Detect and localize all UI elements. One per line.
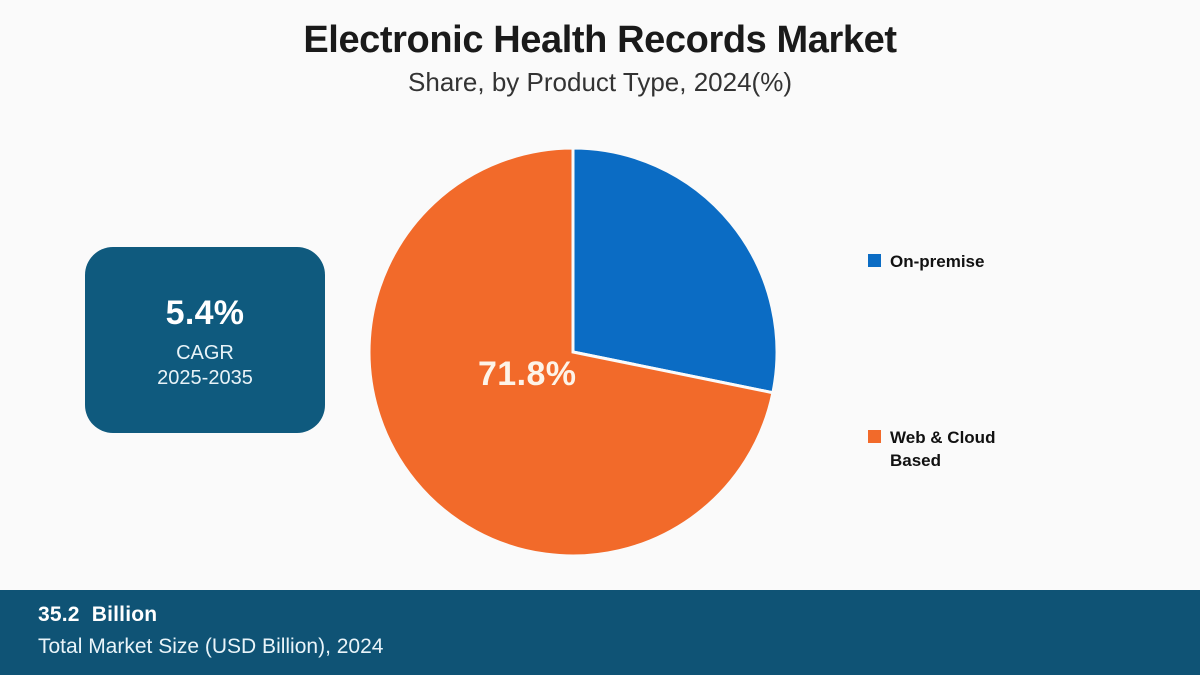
cagr-period: 2025-2035	[157, 366, 253, 391]
legend-item-web-cloud-based[interactable]: Web & Cloud Based	[868, 426, 1040, 472]
chart-canvas: Electronic Health Records Market Share, …	[0, 0, 1200, 675]
legend-item-on-premise[interactable]: On-premise	[868, 250, 984, 273]
legend-label-web-cloud-based: Web & Cloud Based	[890, 426, 1040, 472]
footer-band: 35.2 Billion Total Market Size (USD Bill…	[0, 590, 1200, 675]
cagr-card: 5.4% CAGR 2025-2035	[85, 247, 325, 433]
total-market-size-caption: Total Market Size (USD Billion), 2024	[38, 635, 383, 659]
legend-swatch-web-cloud-based	[868, 430, 881, 443]
legend-swatch-on-premise	[868, 254, 881, 267]
page-subtitle: Share, by Product Type, 2024(%)	[0, 66, 1200, 98]
legend-label-on-premise: On-premise	[890, 250, 984, 273]
cagr-value: 5.4%	[166, 293, 245, 333]
total-market-size-value: 35.2 Billion	[38, 603, 157, 627]
page-title: Electronic Health Records Market	[0, 18, 1200, 62]
pie-slice-on-premise[interactable]	[573, 148, 777, 393]
pie-chart	[368, 147, 778, 557]
pie-svg	[368, 147, 778, 557]
pie-slice-label-web-cloud: 71.8%	[478, 355, 576, 394]
cagr-label: CAGR	[176, 341, 234, 366]
